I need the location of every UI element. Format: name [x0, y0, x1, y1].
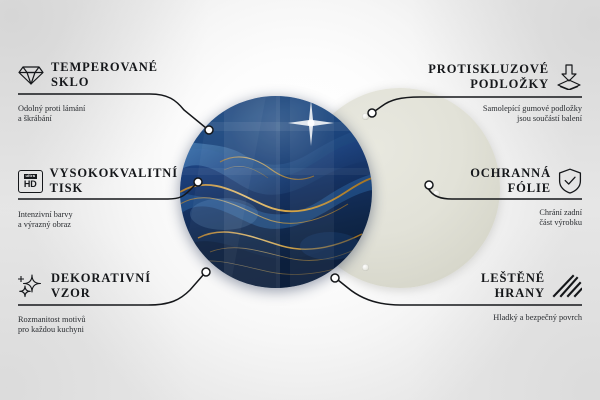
infographic-canvas: TEMPEROVANÉ SKLO Odolný proti lámání a š… [0, 0, 600, 400]
feature-title: OCHRANNÁ FÓLIE [470, 166, 551, 196]
feature-title: PROTISKLUZOVÉ PODLOŽKY [428, 62, 549, 92]
ultra-hd-icon-top-text: ultra [24, 174, 37, 179]
feature-block-tempered-glass: TEMPEROVANÉ SKLO Odolný proti lámání a š… [18, 60, 168, 125]
feature-desc-line2: pro každou kuchyni [18, 325, 168, 335]
feature-header: OCHRANNÁ FÓLIE [432, 166, 582, 196]
shield-check-icon [558, 168, 582, 194]
feature-header: ultra HD VYSOKOKVALITNÍ TISK [18, 166, 178, 196]
press-down-pad-icon [556, 64, 582, 90]
feature-block-polished-edges: LEŠTĚNÉ HRANY Hladký a bezpečný povrch [432, 271, 582, 323]
sparkles-icon [18, 274, 44, 298]
feature-block-high-quality-print: ultra HD VYSOKOKVALITNÍ TISK Intenzivní … [18, 166, 178, 231]
feature-block-anti-slip-pads: PROTISKLUZOVÉ PODLOŽKY Samolepící gumové… [412, 62, 582, 125]
ultra-hd-icon-bottom-text: HD [24, 180, 37, 189]
feature-title: VYSOKOKVALITNÍ TISK [50, 166, 178, 196]
feature-title: LEŠTĚNÉ HRANY [481, 271, 545, 301]
feature-header: TEMPEROVANÉ SKLO [18, 60, 168, 90]
feature-desc-line1: Chrání zadní [432, 208, 582, 218]
feature-desc-line2: a výrazný obraz [18, 220, 178, 230]
front-disc [180, 96, 372, 288]
feature-header: PROTISKLUZOVÉ PODLOŽKY [412, 62, 582, 92]
feature-desc-line2: jsou součástí balení [412, 114, 582, 124]
glass-reflection-overlay [180, 96, 372, 288]
feature-desc-line1: Samolepící gumové podložky [412, 104, 582, 114]
feature-title: DEKORATIVNÍ VZOR [51, 271, 151, 301]
diamond-icon [18, 64, 44, 86]
diagonal-lines-icon [552, 274, 582, 298]
feature-header: LEŠTĚNÉ HRANY [432, 271, 582, 301]
feature-block-decorative-pattern: DEKORATIVNÍ VZOR Rozmanitost motivů pro … [18, 271, 168, 336]
feature-block-protective-film: OCHRANNÁ FÓLIE Chrání zadní část výrobku [432, 166, 582, 229]
feature-desc-line1: Hladký a bezpečný povrch [432, 313, 582, 323]
feature-title: TEMPEROVANÉ SKLO [51, 60, 158, 90]
feature-desc-line2: a škrábání [18, 114, 168, 124]
feature-desc-line1: Odolný proti lámání [18, 104, 168, 114]
ultra-hd-icon: ultra HD [18, 170, 43, 193]
feature-desc-line2: část výrobku [432, 218, 582, 228]
feature-desc-line1: Rozmanitost motivů [18, 315, 168, 325]
feature-header: DEKORATIVNÍ VZOR [18, 271, 168, 301]
feature-desc-line1: Intenzivní barvy [18, 210, 178, 220]
